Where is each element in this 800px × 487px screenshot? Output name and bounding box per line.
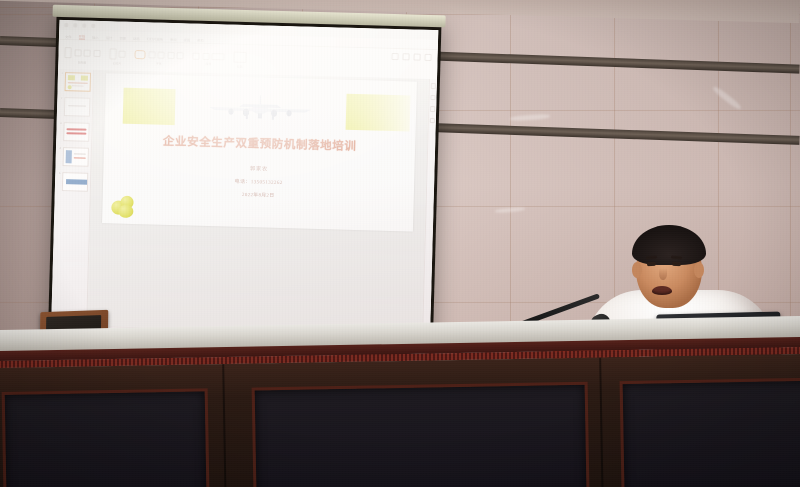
- bold-icon[interactable]: [148, 51, 155, 58]
- ribbon-group-label-clipboard: 剪贴板: [78, 60, 87, 64]
- thumb-yellow-right: [81, 76, 88, 81]
- yellow-apples-image[interactable]: [111, 195, 137, 218]
- dais-panel-left: [2, 388, 210, 487]
- projection-screen: 文件 开始 插入 设计 切换 动画 幻灯片放映 审阅 视图 帮助: [48, 17, 442, 357]
- slide-canvas[interactable]: 企业安全生产双重预防机制落地培训 郭家农 电话：13505132262 2022…: [87, 70, 429, 336]
- slide-thumbnail-4[interactable]: 4: [58, 147, 90, 167]
- thumb-number: 5: [57, 172, 60, 175]
- screen-surface: 文件 开始 插入 设计 切换 动画 幻灯片放映 审阅 视图 帮助: [51, 20, 439, 354]
- thumb-red-line-2: [66, 132, 87, 135]
- apple-3: [118, 205, 133, 218]
- thumb-red-line-1: [66, 128, 87, 131]
- tab-slideshow[interactable]: 幻灯片放映: [146, 36, 163, 41]
- new-slide-icon[interactable]: [109, 48, 116, 59]
- redo-icon[interactable]: [82, 24, 86, 28]
- dais-front-face: [0, 354, 800, 487]
- slide-presenter[interactable]: 郭家农: [103, 161, 415, 176]
- ribbon-group-label-drawing: 绘图: [237, 64, 243, 68]
- dictate-icon[interactable]: [424, 54, 431, 61]
- select-icon[interactable]: [413, 54, 420, 61]
- tab-home[interactable]: 开始: [79, 33, 86, 40]
- cut-icon[interactable]: [74, 49, 81, 56]
- ribbon-group-label-slides: 幻灯片: [113, 61, 122, 65]
- drawing-controls: [233, 51, 246, 62]
- slide-thumbnail-5[interactable]: 5: [57, 172, 89, 192]
- thumb-blue-block: [65, 150, 71, 163]
- tab-design[interactable]: 设计: [106, 35, 113, 40]
- layout-icon[interactable]: [118, 50, 125, 57]
- shape-format-icon[interactable]: [430, 83, 436, 89]
- slide-title[interactable]: 企业安全生产双重预防机制落地培训: [104, 131, 416, 155]
- ear-left: [632, 262, 642, 278]
- thumb-surface[interactable]: [64, 72, 91, 92]
- slide-thumbnail-3[interactable]: 3: [58, 122, 90, 142]
- thumb-number: 3: [59, 122, 62, 125]
- animation-pane-icon[interactable]: [430, 94, 436, 100]
- shapes-gallery-icon[interactable]: [233, 51, 246, 62]
- lecture-room-photo: 文件 开始 插入 设计 切换 动画 幻灯片放映 审阅 视图 帮助: [0, 0, 800, 487]
- nose: [659, 268, 667, 280]
- thumb-surface[interactable]: [62, 147, 89, 167]
- replace-icon[interactable]: [402, 53, 409, 60]
- italic-icon[interactable]: [157, 51, 164, 58]
- thumb-sub-line: [71, 85, 84, 87]
- wooden-dais: [0, 316, 800, 487]
- ribbon-group-paragraph: 段落: [192, 52, 224, 66]
- ppt-workspace: 1 2: [51, 69, 437, 336]
- thumb-surface[interactable]: [63, 122, 90, 142]
- eye-right: [672, 262, 681, 266]
- numbering-icon[interactable]: [202, 52, 209, 59]
- thumb-surface[interactable]: [63, 97, 90, 117]
- clipboard-controls: [64, 47, 100, 59]
- start-slideshow-icon[interactable]: [91, 24, 95, 28]
- tab-review[interactable]: 审阅: [170, 37, 177, 42]
- thumb-yellow-left: [67, 75, 74, 80]
- mouth-open-speaking: [652, 286, 672, 295]
- thumb-line: [73, 153, 86, 155]
- powerpoint-window: 文件 开始 插入 设计 切换 动画 幻灯片放映 审阅 视图 帮助: [51, 20, 439, 354]
- save-icon[interactable]: [64, 23, 68, 27]
- slide-date[interactable]: 2022年8月2日: [102, 187, 414, 202]
- thumb-surface[interactable]: [61, 172, 88, 192]
- font-name-dropdown[interactable]: [134, 49, 145, 58]
- copy-icon[interactable]: [83, 49, 90, 56]
- dais-seam-2: [599, 357, 603, 487]
- design-ideas-icon[interactable]: [430, 106, 436, 112]
- ribbon-right-controls: [391, 53, 431, 61]
- slide-phone[interactable]: 电话：13505132262: [103, 174, 415, 189]
- eye-left: [647, 262, 656, 266]
- thumb-number: 2: [59, 97, 62, 100]
- dais-seam-1: [222, 364, 226, 487]
- airplane-image[interactable]: [201, 94, 320, 123]
- ribbon-group-label-font: 字体: [156, 61, 162, 65]
- ribbon-group-drawing: 绘图: [233, 51, 246, 68]
- tab-animations[interactable]: 动画: [133, 36, 140, 41]
- thumb-title-line: [67, 82, 88, 84]
- align-icon[interactable]: [211, 53, 224, 60]
- ear-right: [694, 262, 704, 278]
- slide-thumbnail-1[interactable]: 1: [60, 72, 92, 92]
- find-icon[interactable]: [391, 53, 398, 60]
- thumb-line: [73, 157, 86, 159]
- thumb-number: 4: [58, 147, 61, 150]
- yellow-block-right[interactable]: [346, 94, 411, 132]
- thumb-apples: [67, 85, 71, 89]
- tab-view[interactable]: 视图: [184, 37, 191, 42]
- paste-icon[interactable]: [64, 47, 71, 58]
- selection-pane-icon[interactable]: [430, 117, 436, 123]
- tab-insert[interactable]: 插入: [92, 35, 99, 40]
- paragraph-controls: [192, 52, 224, 60]
- yellow-block-left[interactable]: [122, 88, 175, 125]
- tab-help[interactable]: 帮助: [197, 38, 204, 43]
- bullets-icon[interactable]: [192, 52, 199, 59]
- thumb-blue-bar: [66, 179, 89, 185]
- underline-icon[interactable]: [167, 51, 174, 58]
- slide-thumbnail-2[interactable]: 2: [59, 97, 91, 117]
- tab-file[interactable]: 文件: [65, 34, 72, 39]
- tab-transitions[interactable]: 切换: [119, 36, 126, 41]
- ribbon-group-font: 字体: [134, 49, 183, 65]
- ribbon-group-clipboard: 剪贴板: [64, 47, 100, 65]
- font-color-icon[interactable]: [176, 52, 183, 59]
- slides-controls: [109, 48, 126, 59]
- format-painter-icon[interactable]: [93, 49, 100, 56]
- thumb-number: 1: [60, 72, 63, 75]
- dais-panel-right: [620, 377, 800, 487]
- undo-icon[interactable]: [73, 23, 77, 27]
- thumb-line: [68, 105, 87, 107]
- ribbon-group-label-paragraph: 段落: [205, 61, 211, 65]
- font-controls: [134, 49, 183, 59]
- current-slide[interactable]: 企业安全生产双重预防机制落地培训 郭家农 电话：13505132262 2022…: [102, 73, 417, 231]
- ribbon-group-slides: 幻灯片: [109, 48, 126, 65]
- dais-panel-center: [252, 382, 590, 487]
